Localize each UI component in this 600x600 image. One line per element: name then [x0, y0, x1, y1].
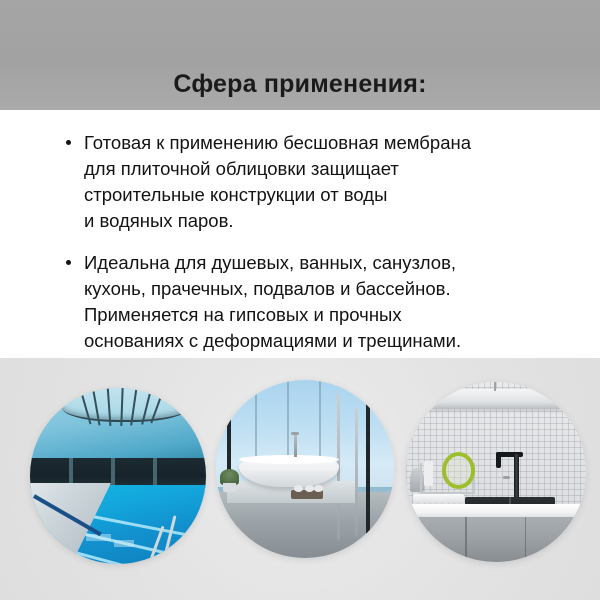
- green-bowl: [442, 452, 475, 489]
- bullet-dot-icon: [66, 260, 71, 265]
- bullet-text: Готовая к применению бесшовная мембрана …: [84, 130, 552, 234]
- bathtub-faucet: [294, 433, 297, 456]
- pool-reflection: [114, 540, 133, 546]
- kitchen-faucet-spout: [496, 452, 501, 468]
- kitchen-scene: [406, 382, 586, 562]
- pool-scene: [30, 388, 206, 564]
- cabinet-seam: [525, 517, 527, 562]
- decor-object: [314, 485, 323, 492]
- page-title: Сфера применения:: [0, 69, 600, 99]
- bathtub-faucet-head: [291, 432, 299, 435]
- bathroom-scene: [216, 380, 394, 558]
- list-item: Идеальна для душевых, ванных, санузлов, …: [62, 250, 552, 354]
- decor-object: [305, 485, 314, 492]
- dish-plate: [424, 461, 433, 486]
- plant-pot: [223, 483, 235, 492]
- window-frame: [366, 380, 370, 537]
- bathroom-photo: [216, 380, 394, 558]
- bullet-list: Готовая к применению бесшовная мембрана …: [62, 130, 552, 354]
- list-item: Готовая к применению бесшовная мембрана …: [62, 130, 552, 234]
- range-hood: [420, 389, 575, 409]
- dish-tray: [413, 494, 463, 503]
- pool-column: [153, 458, 157, 488]
- bathtub-rim: [239, 455, 339, 464]
- base-cabinets: [406, 517, 586, 562]
- header-band: Сфера применения:: [0, 0, 600, 110]
- kitchen-photo: [406, 382, 586, 562]
- swimming-pool-photo: [30, 388, 206, 564]
- faucet-handle: [503, 476, 510, 479]
- hood-rod: [494, 382, 496, 391]
- bullet-dot-icon: [66, 140, 71, 145]
- body-panel: Готовая к применению бесшовная мембрана …: [0, 110, 600, 358]
- bullet-text: Идеальна для душевых, ванных, санузлов, …: [84, 250, 552, 354]
- pool-column: [111, 458, 115, 488]
- photo-strip: [0, 358, 600, 600]
- cabinet-seam: [465, 517, 467, 562]
- shower-door-post: [355, 408, 358, 536]
- slide-root: Сфера применения: Готовая к применению б…: [0, 0, 600, 600]
- kitchen-faucet-stem: [514, 454, 519, 501]
